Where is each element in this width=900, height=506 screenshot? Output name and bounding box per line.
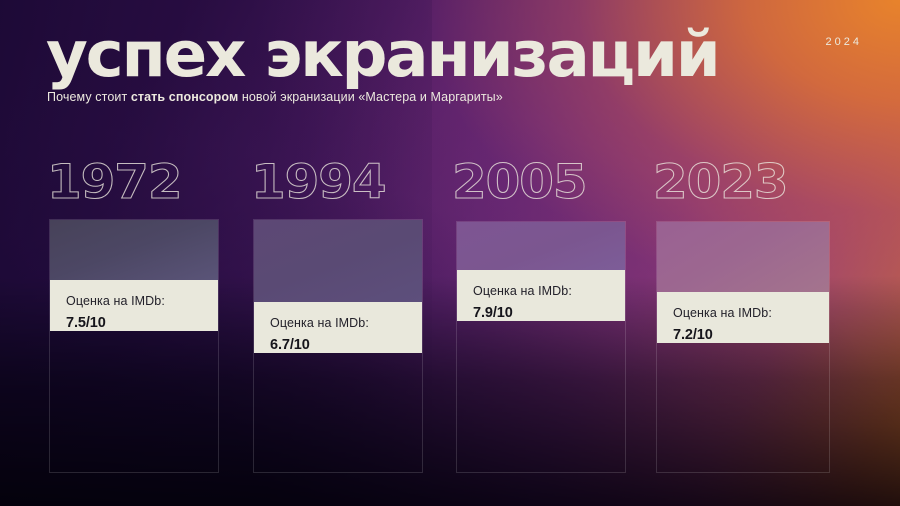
poster-image-2023 xyxy=(657,222,829,292)
card-body-1994: Оценка на IMDb: 6.7/10 xyxy=(254,302,422,353)
page-subtitle: Почему стоит стать спонсором новой экран… xyxy=(47,90,503,104)
poster-image-1994 xyxy=(254,220,422,302)
imdb-score-1972: 7.5/10 xyxy=(66,315,202,331)
card-body-2023: Оценка на IMDb: 7.2/10 xyxy=(657,292,829,343)
adaptation-card-1994[interactable]: Оценка на IMDb: 6.7/10 xyxy=(254,220,422,472)
imdb-label-2005: Оценка на IMDb: xyxy=(473,284,609,300)
adaptation-card-2023[interactable]: Оценка на IMDb: 7.2/10 xyxy=(657,222,829,472)
imdb-score-1994: 6.7/10 xyxy=(270,337,406,353)
card-body-1972: Оценка на IMDb: 7.5/10 xyxy=(50,280,218,331)
imdb-score-2023: 7.2/10 xyxy=(673,327,813,343)
poster-image-1972 xyxy=(50,220,218,280)
presentation-slide: 2024 успех экранизаций Почему стоит стат… xyxy=(0,0,900,506)
slide-year-badge: 2024 xyxy=(826,36,862,48)
imdb-label-1972: Оценка на IMDb: xyxy=(66,294,202,310)
adaptation-card-1972[interactable]: Оценка на IMDb: 7.5/10 xyxy=(50,220,218,472)
imdb-score-2005: 7.9/10 xyxy=(473,305,609,321)
imdb-label-1994: Оценка на IMDb: xyxy=(270,316,406,332)
page-title: успех экранизаций xyxy=(46,23,719,86)
subtitle-tail: новой экранизации «Мастера и Маргариты» xyxy=(238,90,503,104)
card-body-2005: Оценка на IMDb: 7.9/10 xyxy=(457,270,625,321)
adaptation-card-2005[interactable]: Оценка на IMDb: 7.9/10 xyxy=(457,222,625,472)
subtitle-emphasis: стать спонсором xyxy=(131,90,238,104)
imdb-label-2023: Оценка на IMDb: xyxy=(673,306,813,322)
poster-image-2005 xyxy=(457,222,625,270)
subtitle-lead: Почему стоит xyxy=(47,90,131,104)
